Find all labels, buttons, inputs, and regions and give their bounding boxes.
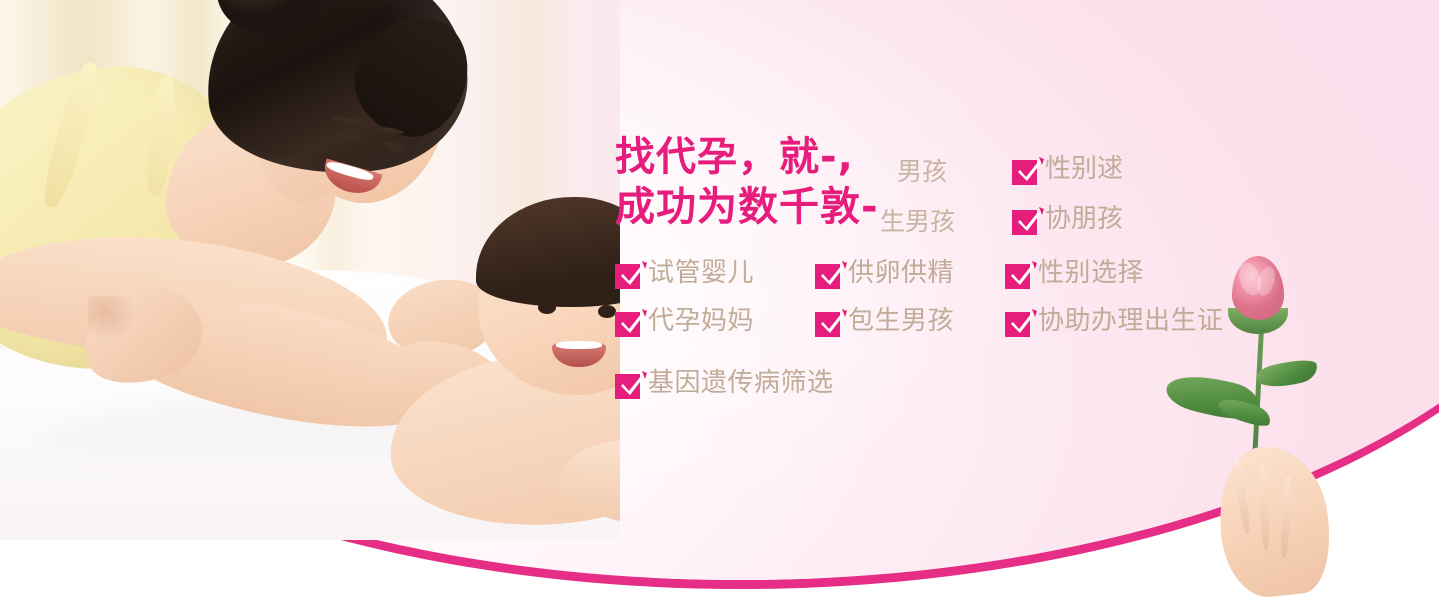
- checkbox-checked-icon: [615, 309, 640, 334]
- ghost-feature-label: 性别逑: [1045, 154, 1123, 184]
- promo-banner: 找代孕，就-, 成功为数千敦- 男孩 生男孩 性别逑 协朋孩: [0, 0, 1439, 600]
- ghost-feature-item-2: 协朋孩: [1012, 204, 1123, 234]
- feature-row: 基因遗传病筛选: [615, 368, 1224, 416]
- rose-hand: [1212, 441, 1335, 600]
- feature-item-boy-guarantee[interactable]: 包生男孩: [815, 306, 1005, 336]
- feature-item-gender-select[interactable]: 性别选择: [1005, 258, 1144, 288]
- feature-item-ivf[interactable]: 试管婴儿: [615, 258, 815, 288]
- baby-teeth: [556, 341, 602, 349]
- baby-eye-right: [598, 305, 616, 318]
- ghost-label-row2: 生男孩: [880, 207, 955, 237]
- checkbox-checked-icon: [815, 309, 840, 334]
- headline-line-2: 成功为数千敦-: [615, 182, 879, 232]
- feature-item-surrogate-mother[interactable]: 代孕妈妈: [615, 306, 815, 336]
- mother-and-baby-photo: [0, 0, 620, 540]
- rose-leaf-right: [1254, 355, 1320, 393]
- feature-label: 性别选择: [1038, 258, 1144, 288]
- headline: 找代孕，就-, 成功为数千敦-: [615, 132, 879, 232]
- feature-label: 供卵供精: [848, 258, 954, 288]
- checkbox-checked-icon: [1005, 309, 1030, 334]
- feature-item-donor[interactable]: 供卵供精: [815, 258, 1005, 288]
- feature-list: 试管婴儿 供卵供精: [615, 258, 1224, 416]
- feature-row: 代孕妈妈 包生男孩: [615, 306, 1224, 354]
- checkbox-checked-icon: [1005, 261, 1030, 286]
- checkbox-checked-icon: [1012, 157, 1037, 182]
- feature-label: 代孕妈妈: [648, 306, 754, 336]
- mother-toes: [88, 296, 148, 336]
- ghost-feature-label: 协朋孩: [1045, 204, 1123, 234]
- baby-figure: [430, 215, 620, 535]
- checkbox-checked-icon: [615, 261, 640, 286]
- baby-eye-left: [538, 301, 556, 314]
- feature-label: 基因遗传病筛选: [648, 368, 834, 398]
- ghost-label-row1: 男孩: [897, 157, 947, 187]
- feature-item-genetic-screening[interactable]: 基因遗传病筛选: [615, 368, 834, 398]
- feature-row: 试管婴儿 供卵供精: [615, 258, 1224, 306]
- feature-label: 协助办理出生证: [1038, 306, 1224, 336]
- checkbox-checked-icon: [1012, 207, 1037, 232]
- headline-line-1: 找代孕，就-,: [615, 132, 879, 182]
- feature-label: 试管婴儿: [648, 258, 754, 288]
- feature-item-birth-certificate[interactable]: 协助办理出生证: [1005, 306, 1224, 336]
- ghost-feature-item-1: 性别逑: [1012, 154, 1123, 184]
- checkbox-checked-icon: [615, 371, 640, 396]
- checkbox-checked-icon: [815, 261, 840, 286]
- feature-label: 包生男孩: [848, 306, 954, 336]
